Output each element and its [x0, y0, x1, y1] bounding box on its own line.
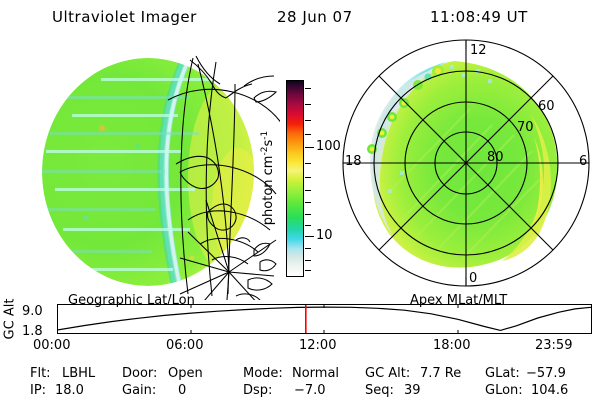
status-gain-value: 0: [178, 383, 186, 398]
colorbar: 100 10 photon cm-2s-1: [286, 80, 304, 277]
colorbar-tick-label-100: 100: [316, 140, 341, 153]
polar-plot-panel: 12 6 0 18 60 70 80: [342, 39, 590, 287]
time-tick-2359: 23:59: [535, 338, 572, 353]
colorbar-title-sup2: -1: [260, 131, 270, 140]
status-flt-value: LBHL: [62, 366, 95, 381]
status-door-value: Open: [168, 366, 203, 381]
colorbar-gradient: [286, 80, 304, 277]
polar-aurora-plot: [342, 39, 590, 287]
mlt-label-18: 18: [345, 155, 362, 168]
status-seq-label: Seq:: [365, 383, 394, 398]
status-door-label: Door:: [122, 366, 157, 381]
time-tick-1200: 12:00: [299, 338, 336, 353]
geographic-image-panel: [42, 58, 254, 286]
observation-date: 28 Jun 07: [277, 8, 353, 26]
colorbar-title-sup1: -2: [260, 147, 270, 156]
gc-alt-tick-1-8: 1.8: [22, 324, 43, 339]
status-seq-value: 39: [404, 383, 421, 398]
status-ip-value: 18.0: [55, 383, 84, 398]
altitude-timeline-panel[interactable]: [57, 304, 592, 334]
mlat-ring-label-70: 70: [517, 121, 534, 134]
observation-time: 11:08:49 UT: [430, 8, 528, 26]
status-ip-label: IP:: [30, 383, 46, 398]
status-glon-label: GLon:: [485, 383, 523, 398]
mlt-label-0: 0: [469, 272, 477, 285]
status-gain-label: Gain:: [122, 383, 156, 398]
instrument-title: Ultraviolet Imager: [52, 8, 197, 26]
coastline-graticule-overlay: [30, 44, 280, 300]
time-tick-0600: 06:00: [166, 338, 203, 353]
mlt-label-12: 12: [470, 44, 487, 57]
status-dsp-value: −7.0: [294, 383, 326, 398]
gc-alt-axis-title: GC Alt: [3, 299, 18, 340]
mlat-ring-label-80: 80: [487, 151, 504, 164]
time-tick-1800: 18:00: [433, 338, 470, 353]
altitude-trace-plot: [58, 305, 591, 333]
gc-alt-tick-9: 9.0: [22, 304, 43, 319]
colorbar-title-mid: s: [261, 140, 276, 147]
status-gcalt-label: GC Alt:: [365, 366, 410, 381]
status-glat-value: −57.9: [526, 366, 566, 381]
colorbar-axis-title: photon cm-2s-1: [260, 131, 276, 225]
altitude-trace-line: [58, 307, 591, 330]
colorbar-title-main: photon cm: [261, 156, 276, 226]
status-dsp-label: Dsp:: [243, 383, 272, 398]
status-glat-label: GLat:: [485, 366, 520, 381]
status-gcalt-value: 7.7 Re: [420, 366, 461, 381]
mlat-ring-label-60: 60: [538, 100, 555, 113]
status-mode-label: Mode:: [243, 366, 283, 381]
status-glon-value: 104.6: [531, 383, 568, 398]
mlt-label-6: 6: [579, 155, 587, 168]
status-flt-label: Flt:: [30, 366, 51, 381]
colorbar-tick-label-10: 10: [316, 229, 333, 242]
status-mode-value: Normal: [292, 366, 339, 381]
time-tick-0000: 00:00: [33, 338, 70, 353]
